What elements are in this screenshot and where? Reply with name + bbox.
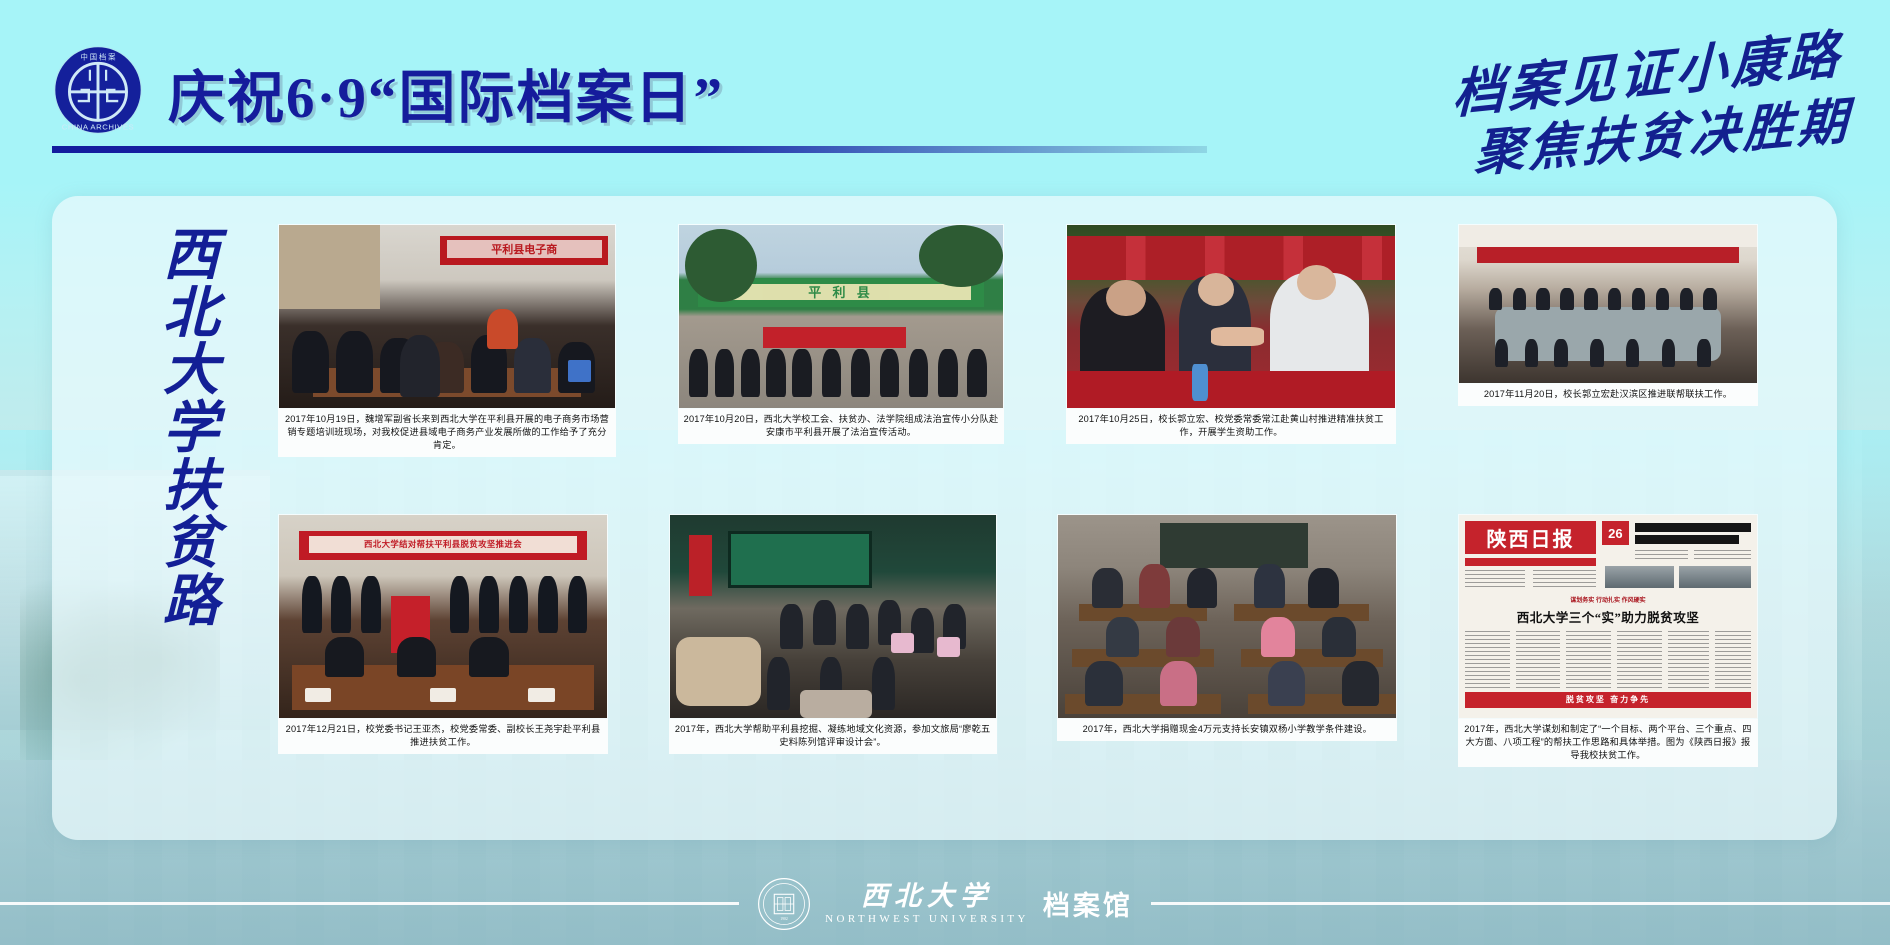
- photo-image-1: 平利县电子商: [278, 224, 616, 409]
- footer-rule-right: [1151, 902, 1890, 905]
- newspaper-date: 26: [1602, 521, 1629, 545]
- photo-row-2: 西北大学结对帮扶平利县脱贫攻坚推进会: [278, 514, 1758, 767]
- photo-card-1[interactable]: 平利县电子商 2017年10月19日，魏增军副省长来到西北: [278, 224, 616, 457]
- poster-board: 中 国 档 案 CHINA ARCHIVES 庆祝6·9“国际档案日” 档案见证…: [0, 0, 1890, 945]
- photo-caption-2: 2017年10月20日，西北大学校工会、扶贫办、法学院组成法治宣传小分队赴安康市…: [678, 409, 1004, 444]
- vertical-calligraphy-title: 西 北 大 学 扶 贫 路: [148, 228, 234, 632]
- photo-card-5[interactable]: 西北大学结对帮扶平利县脱贫攻坚推进会: [278, 514, 608, 767]
- photo-image-2: 平 利 县: [678, 224, 1004, 409]
- footer-university-en: NORTHWEST UNIVERSITY: [825, 914, 1029, 925]
- vertical-char-0: 西: [148, 228, 234, 286]
- photo-image-8: 陕西日报 26 谋划务实 行动扎实 作风硬实 西北大学三个“实”助力脱贫攻坚: [1458, 514, 1758, 719]
- photo-card-7[interactable]: 2017年，西北大学捐赠现金4万元支持长安镇双杨小学教学条件建设。: [1057, 514, 1397, 767]
- photo-row-1: 平利县电子商 2017年10月19日，魏增军副省长来到西北: [278, 224, 1758, 457]
- photo-image-7: [1057, 514, 1397, 719]
- photo-image-3: [1066, 224, 1396, 409]
- photo-image-5: 西北大学结对帮扶平利县脱贫攻坚推进会: [278, 514, 608, 719]
- photo-grid: 平利县电子商 2017年10月19日，魏增军副省长来到西北: [278, 224, 1758, 824]
- photo-card-2[interactable]: 平 利 县 2017年10月20日，西北大学校工会、扶贫办、法学院组成法治宣传小…: [678, 224, 1004, 457]
- china-archives-seal-icon: 中 国 档 案 CHINA ARCHIVES: [52, 44, 144, 136]
- vertical-char-6: 路: [148, 574, 234, 632]
- poster-header: 中 国 档 案 CHINA ARCHIVES 庆祝6·9“国际档案日” 档案见证…: [0, 0, 1890, 175]
- poster-footer: 1902 西北大学 NORTHWEST UNIVERSITY 档案馆: [0, 862, 1890, 945]
- page-title: 庆祝6·9“国际档案日”: [168, 52, 724, 134]
- newspaper-subhead: 谋划务实 行动扎实 作风硬实: [1465, 594, 1751, 604]
- vertical-char-1: 北: [148, 286, 234, 344]
- photo-card-8[interactable]: 陕西日报 26 谋划务实 行动扎实 作风硬实 西北大学三个“实”助力脱贫攻坚: [1458, 514, 1758, 767]
- newspaper-masthead: 陕西日报: [1465, 521, 1596, 553]
- footer-university-name: 西北大学 NORTHWEST UNIVERSITY: [825, 883, 1029, 925]
- photo-caption-3: 2017年10月25日，校长郭立宏、校党委常委常江赴黄山村推进精准扶贫工作，开展…: [1066, 409, 1396, 444]
- photo-image-6: [669, 514, 997, 719]
- photo-caption-4: 2017年11月20日，校长郭立宏赴汉滨区推进联帮联扶工作。: [1458, 384, 1758, 406]
- photo-overlay-text-5: 西北大学结对帮扶平利县脱贫攻坚推进会: [309, 536, 578, 552]
- photo-caption-7: 2017年，西北大学捐赠现金4万元支持长安镇双杨小学教学条件建设。: [1057, 719, 1397, 741]
- photo-caption-6: 2017年，西北大学帮助平利县挖掘、凝练地域文化资源，参加文旅局“廖乾五史料陈列…: [669, 719, 997, 754]
- svg-text:1902: 1902: [780, 917, 788, 921]
- footer-archive-label: 档案馆: [1043, 884, 1133, 923]
- photo-image-4: [1458, 224, 1758, 384]
- svg-text:中 国 档 案: 中 国 档 案: [81, 53, 117, 62]
- vertical-char-4: 扶: [148, 459, 234, 517]
- photo-card-4[interactable]: 2017年11月20日，校长郭立宏赴汉滨区推进联帮联扶工作。: [1458, 224, 1758, 457]
- footer-brand: 1902 西北大学 NORTHWEST UNIVERSITY 档案馆: [757, 877, 1133, 931]
- photo-card-3[interactable]: 2017年10月25日，校长郭立宏、校党委常委常江赴黄山村推进精准扶贫工作，开展…: [1066, 224, 1396, 457]
- newspaper-footer-banner: 脱贫攻坚 奋力争先: [1465, 692, 1751, 708]
- photo-caption-8: 2017年，西北大学谋划和制定了“一个目标、两个平台、三个重点、四大方面、八项工…: [1458, 719, 1758, 767]
- photo-card-6[interactable]: 2017年，西北大学帮助平利县挖掘、凝练地域文化资源，参加文旅局“廖乾五史料陈列…: [669, 514, 997, 767]
- slogan-calligraphy: 档案见证小康路 聚焦扶贫决胜期: [1190, 12, 1850, 162]
- footer-university-cn: 西北大学: [861, 883, 993, 910]
- vertical-char-2: 大: [148, 343, 234, 401]
- photo-overlay-text-1: 平利县电子商: [447, 240, 602, 258]
- northwest-university-seal-icon: 1902: [757, 877, 811, 931]
- header-divider: [52, 146, 1207, 153]
- photo-caption-5: 2017年12月21日，校党委书记王亚杰，校党委常委、副校长王尧宇赴平利县推进扶…: [278, 719, 608, 754]
- svg-text:CHINA ARCHIVES: CHINA ARCHIVES: [62, 123, 135, 132]
- newspaper-headline: 西北大学三个“实”助力脱贫攻坚: [1465, 606, 1751, 626]
- photo-caption-1: 2017年10月19日，魏增军副省长来到西北大学在平利县开展的电子商务市场营销专…: [278, 409, 616, 457]
- vertical-char-3: 学: [148, 401, 234, 459]
- footer-rule-left: [0, 902, 739, 905]
- vertical-char-5: 贫: [148, 516, 234, 574]
